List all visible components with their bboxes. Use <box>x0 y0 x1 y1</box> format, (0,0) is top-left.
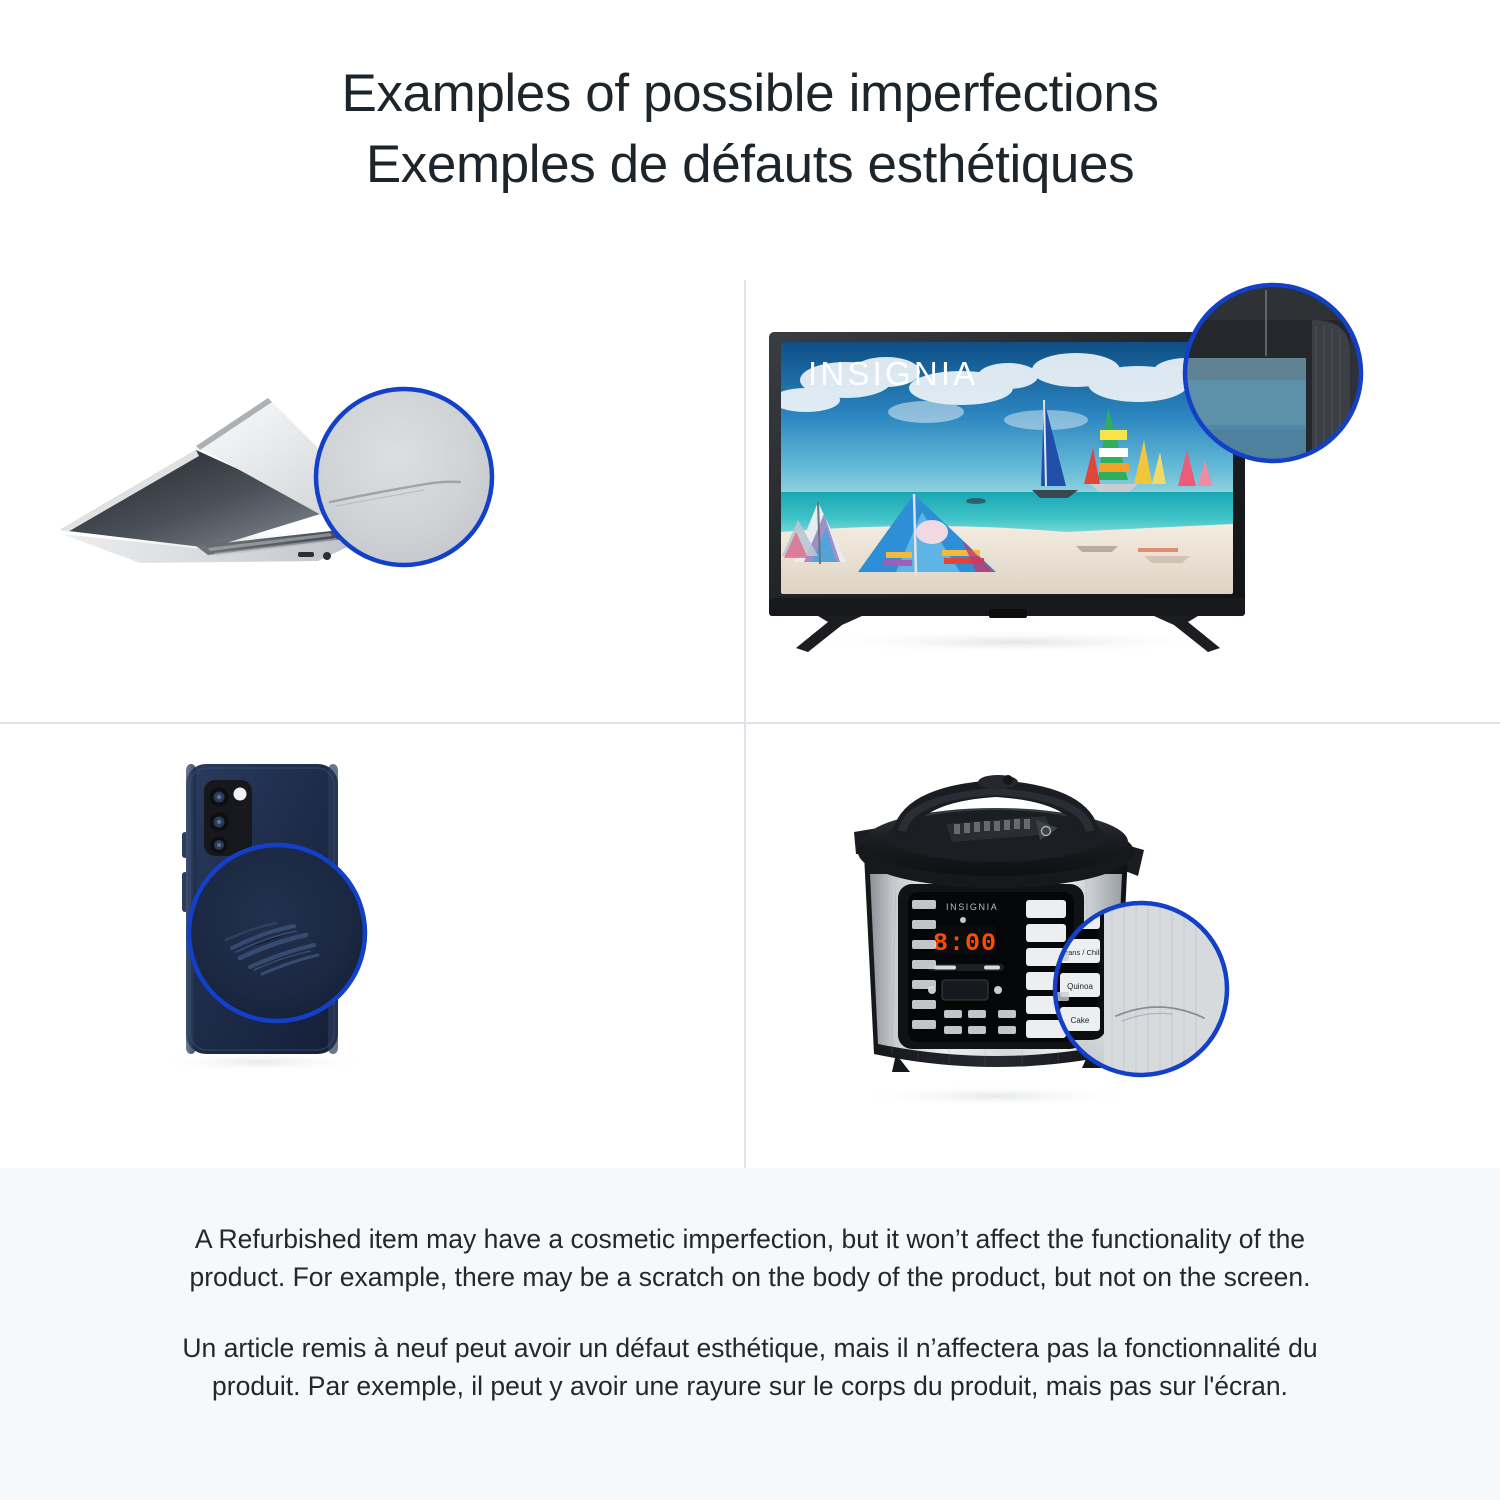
example-phone <box>0 724 744 1168</box>
page-title-french: Exemples de défauts esthétiques <box>0 129 1500 200</box>
tv-shadow <box>801 630 1231 654</box>
page-title: Examples of possible imperfections Exemp… <box>0 58 1500 200</box>
cooker-mag-button-4: Cake <box>1071 1016 1090 1025</box>
magnifier-phone-scuff <box>189 845 365 1021</box>
tv-brand-wordmark: INSIGNIA <box>808 355 978 392</box>
refurbished-imperfections-infographic: Examples of possible imperfections Exemp… <box>0 0 1500 1500</box>
laptop-port <box>298 552 314 557</box>
laptop-illustration <box>0 280 744 722</box>
tv-ir-sensor <box>989 609 1027 618</box>
footer-disclaimer: A Refurbished item may have a cosmetic i… <box>0 1168 1500 1500</box>
cooker-mag-button-3: Quinoa <box>1067 982 1093 991</box>
example-tv: INSIGNIA <box>746 280 1500 722</box>
laptop-jack <box>323 552 331 560</box>
page-title-english: Examples of possible imperfections <box>0 58 1500 129</box>
example-pressure-cooker: INSIGNIA 8:00 <box>746 724 1500 1168</box>
phone-shadow <box>152 1052 372 1072</box>
cooker-shadow <box>854 1085 1138 1107</box>
cooker-illustration: INSIGNIA 8:00 <box>746 724 1500 1168</box>
tv-screen: INSIGNIA <box>772 342 1233 594</box>
tv-illustration: INSIGNIA <box>746 280 1500 722</box>
tv-far-boat <box>966 498 986 504</box>
magnifier-laptop-scratch <box>316 389 492 565</box>
phone-illustration <box>0 724 744 1168</box>
phone-camera-flash-icon <box>234 788 247 801</box>
example-laptop <box>0 280 744 722</box>
cooker-progress-fill <box>934 966 956 970</box>
footer-paragraph-english: A Refurbished item may have a cosmetic i… <box>180 1220 1320 1296</box>
footer-paragraph-french: Un article remis à neuf peut avoir un dé… <box>180 1329 1320 1405</box>
phone-camera-module <box>204 780 252 856</box>
cooker-manual-button[interactable] <box>942 980 988 1000</box>
magnifier-cooker-scratch: Veggies Beans / Chili Quinoa Cake <box>1055 903 1234 1078</box>
cooker-indicator-led <box>960 917 966 923</box>
cooker-display-value: 8:00 <box>933 929 997 958</box>
examples-grid: INSIGNIA <box>0 280 1500 1168</box>
cooker-float-valve-icon <box>1003 775 1013 785</box>
cooker-progress-fill-2 <box>984 966 1000 970</box>
cooker-brand-wordmark: INSIGNIA <box>946 902 998 912</box>
cooker-plus-button[interactable] <box>994 986 1002 994</box>
